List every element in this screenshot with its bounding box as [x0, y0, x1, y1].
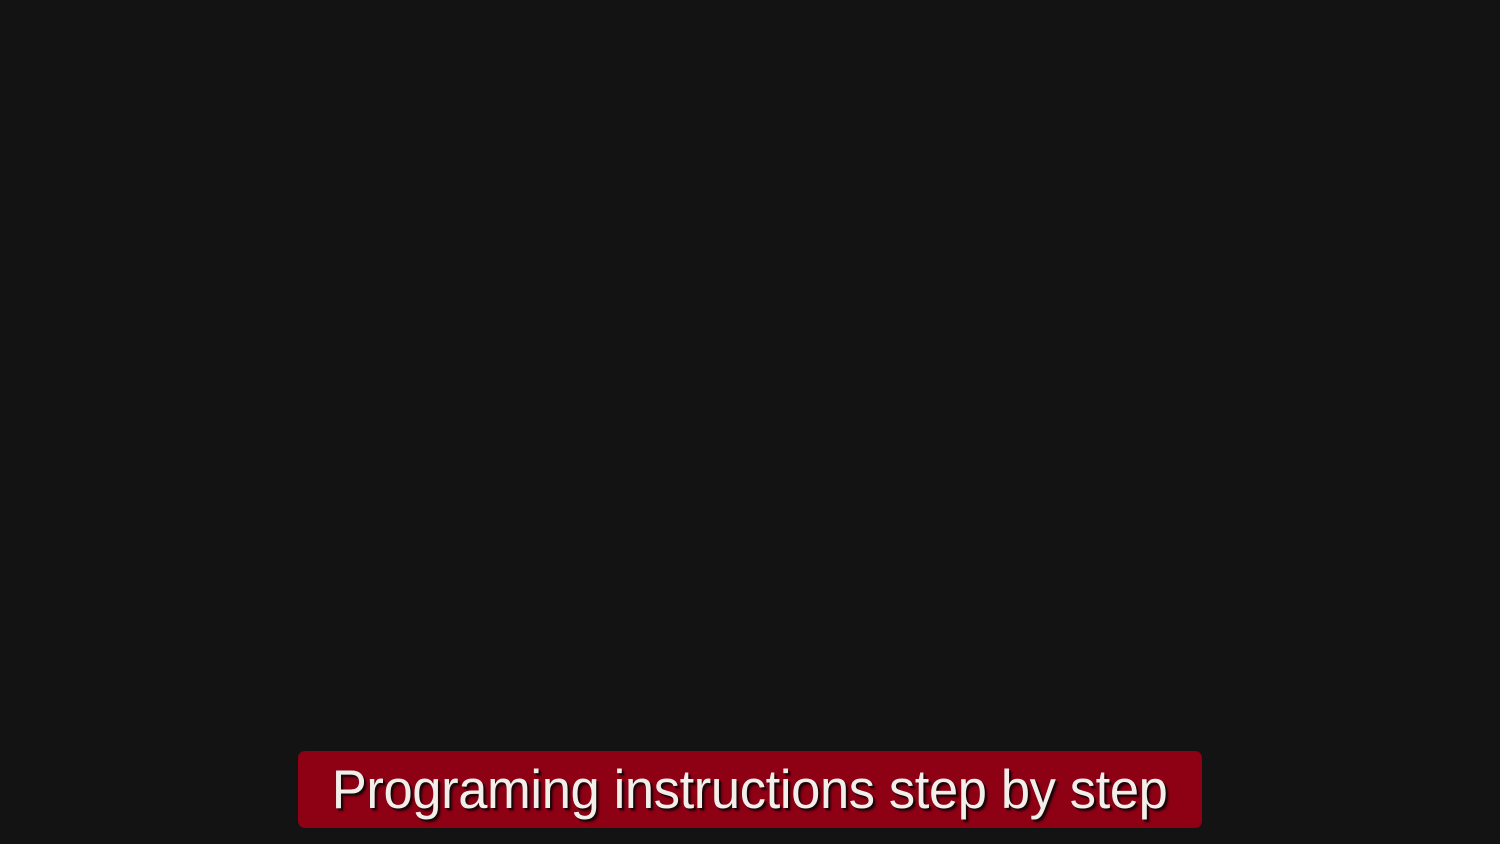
video-player-screen: Programing instructions step by step — [0, 0, 1500, 844]
video-surface[interactable] — [0, 0, 1500, 844]
caption-text: Programing instructions step by step — [332, 751, 1168, 828]
caption-banner[interactable]: Programing instructions step by step — [298, 751, 1201, 828]
